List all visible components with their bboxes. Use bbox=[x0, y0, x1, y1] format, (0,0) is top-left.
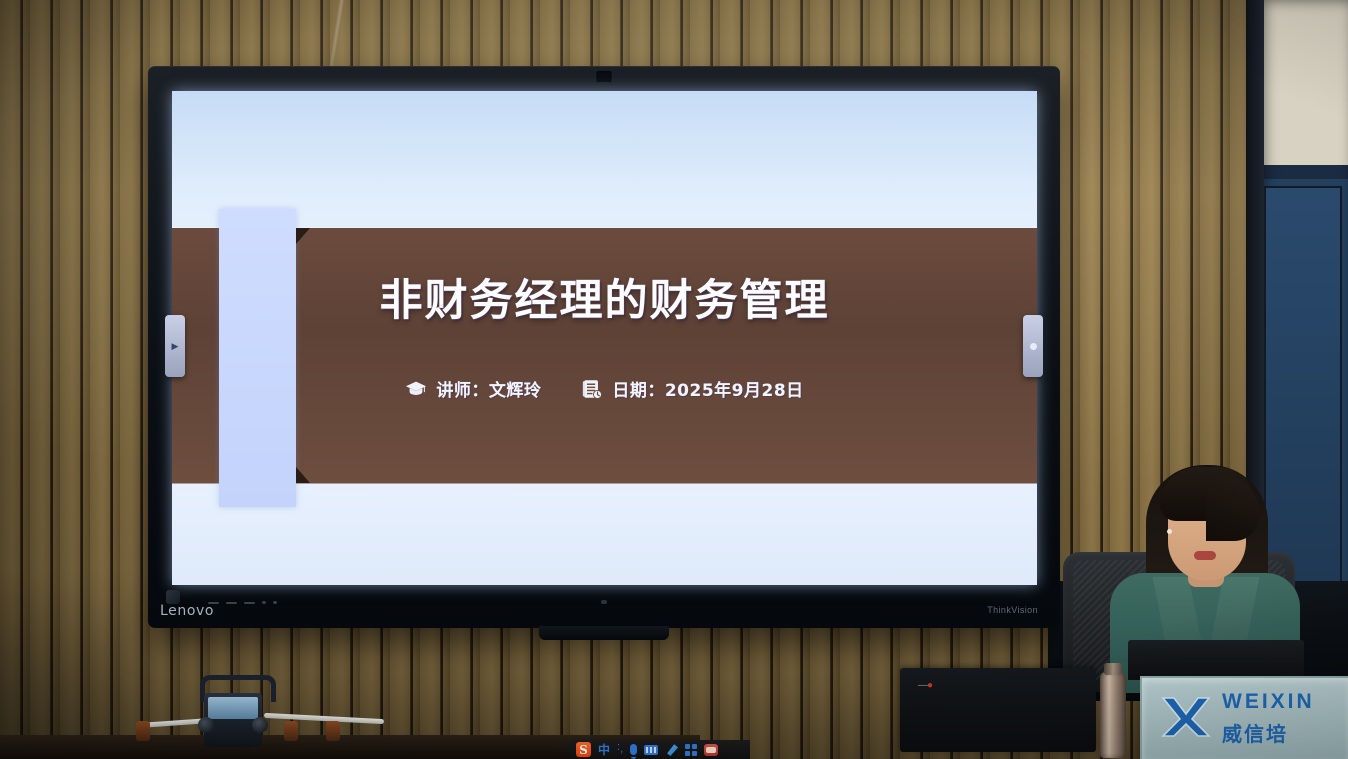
bezel-button[interactable] bbox=[226, 602, 237, 604]
weixin-w-logo-icon bbox=[1160, 694, 1212, 740]
bezel-button[interactable] bbox=[273, 601, 277, 604]
play-triangle-icon: ▶ bbox=[172, 342, 179, 351]
rc-controller-screen bbox=[208, 697, 258, 719]
drone-motor bbox=[284, 721, 298, 741]
podium-cn-name: 威信培 bbox=[1222, 718, 1288, 747]
slide-meta-row: 讲师：文辉玲 bbox=[172, 376, 1037, 401]
slide-meta-date: 日期：2025年9月28日 bbox=[581, 376, 803, 401]
display-side-tab-right[interactable] bbox=[1023, 315, 1043, 377]
sogou-logo-icon[interactable]: S bbox=[576, 742, 591, 757]
slide-title: 非财务经理的财务管理 bbox=[172, 266, 1037, 328]
camera-icon bbox=[597, 71, 612, 82]
drone-motor bbox=[326, 721, 340, 741]
skin-brush-icon[interactable] bbox=[665, 742, 678, 757]
thermos-bottle bbox=[1100, 672, 1126, 758]
slide-ribbon-bar bbox=[219, 209, 296, 507]
soft-keyboard-icon[interactable] bbox=[644, 742, 658, 757]
display-stand bbox=[539, 626, 669, 640]
podium-panel: WEIXIN 威信培 bbox=[1140, 676, 1348, 759]
presentation-screen[interactable]: 非财务经理的财务管理 讲师：文辉玲 bbox=[172, 91, 1037, 585]
slide-canvas: 非财务经理的财务管理 讲师：文辉玲 bbox=[172, 91, 1037, 585]
thinkpad-logo-icon: ―● bbox=[918, 680, 932, 691]
dot-icon bbox=[1030, 343, 1037, 350]
bezel-button[interactable] bbox=[244, 602, 255, 604]
bezel-button[interactable] bbox=[262, 601, 266, 604]
chinese-mode-icon[interactable]: 中 bbox=[598, 742, 610, 757]
screenshot-stage: 非财务经理的财务管理 讲师：文辉玲 bbox=[0, 0, 1348, 759]
ribbon-fold-top bbox=[296, 228, 310, 244]
punctuation-icon[interactable]: ˸, bbox=[617, 742, 623, 757]
rc-stick-left bbox=[198, 717, 214, 733]
bezel-sensor bbox=[166, 590, 180, 604]
podium-wordmark: WEIXIN bbox=[1222, 690, 1315, 714]
drone-with-controller bbox=[176, 669, 296, 747]
display-side-tab-left[interactable]: ▶ bbox=[165, 315, 185, 377]
ribbon-fold-bottom bbox=[296, 467, 310, 483]
ir-receiver-icon bbox=[601, 600, 607, 604]
thinkpad-laptop[interactable]: ―● bbox=[900, 668, 1096, 752]
display-brand-thinkvision: ThinkVision bbox=[987, 605, 1038, 615]
secondary-monitor bbox=[1128, 640, 1304, 680]
bezel-button-row[interactable] bbox=[208, 601, 277, 604]
app-grid-icon[interactable] bbox=[685, 742, 697, 757]
presenter-earring bbox=[1167, 529, 1172, 534]
slide-meta-date-label: 日期：2025年9月28日 bbox=[612, 376, 803, 401]
slide-meta-instructor-label: 讲师：文辉玲 bbox=[436, 376, 541, 401]
calendar-clock-icon bbox=[581, 378, 603, 400]
slide-meta-instructor: 讲师：文辉玲 bbox=[405, 376, 541, 401]
drone-motor bbox=[136, 721, 150, 741]
sogou-ime-toolbar[interactable]: S 中 ˸, bbox=[570, 740, 750, 759]
lenovo-thinkvision-display[interactable]: 非财务经理的财务管理 讲师：文辉玲 bbox=[148, 66, 1060, 628]
display-brand-lenovo: Lenovo bbox=[160, 603, 214, 619]
rc-stick-right bbox=[252, 717, 268, 733]
graduation-cap-icon bbox=[405, 378, 427, 400]
emoji-box-icon[interactable] bbox=[704, 742, 718, 757]
microphone-icon[interactable] bbox=[630, 742, 637, 757]
presenter-mouth bbox=[1194, 551, 1216, 560]
